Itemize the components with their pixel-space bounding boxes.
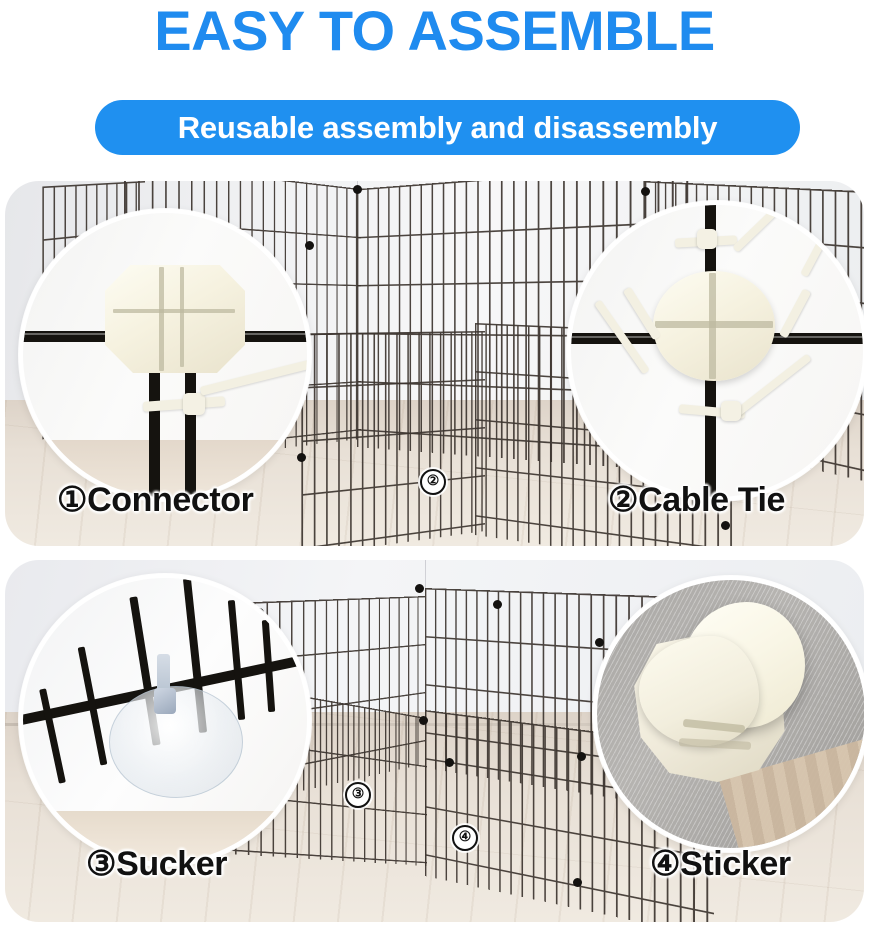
connector-slot xyxy=(180,267,184,367)
bubble-sucker xyxy=(19,574,311,866)
caption-sucker: ③Sucker xyxy=(86,844,227,884)
connector-part xyxy=(105,265,245,373)
bubble-connector xyxy=(19,209,311,501)
bubble-sticker xyxy=(593,576,864,852)
cable-tie-head xyxy=(721,401,741,421)
connector-node xyxy=(419,716,428,725)
panel-sucker-sticker: ③ ④ xyxy=(5,560,864,922)
connector-node xyxy=(577,752,586,761)
scene-marker-3: ③ xyxy=(345,782,371,808)
connector-node xyxy=(573,878,582,887)
frame-rod-vertical xyxy=(185,353,196,497)
connector-slot xyxy=(655,321,773,328)
connector-node xyxy=(721,521,730,530)
mesh-panel-left-front xyxy=(301,331,485,546)
playpen-scene-top: ② ① xyxy=(5,181,864,546)
scene-marker-4: ④ xyxy=(452,825,478,851)
connector-node xyxy=(493,600,502,609)
frame-rod-vertical xyxy=(149,353,160,497)
header: EASY TO ASSEMBLE Reusable assembly and d… xyxy=(0,0,869,170)
sucker-part xyxy=(109,686,243,798)
panel-connector-cabletie: ② ① xyxy=(5,181,864,546)
connector-slot xyxy=(113,309,235,313)
subtitle-pill: Reusable assembly and disassembly xyxy=(95,100,800,155)
page-title: EASY TO ASSEMBLE xyxy=(0,2,869,60)
cable-tie-head xyxy=(697,229,717,249)
connector-node xyxy=(353,185,362,194)
connector-node xyxy=(641,187,650,196)
caption-sticker: ④Sticker xyxy=(650,844,791,884)
connector-slot xyxy=(159,267,164,371)
connector-node xyxy=(445,758,454,767)
bubble-cable-tie xyxy=(567,201,864,501)
subtitle-text: Reusable assembly and disassembly xyxy=(178,110,718,146)
sucker-clip xyxy=(154,688,176,714)
caption-cable-tie: ②Cable Tie xyxy=(608,480,785,520)
caption-connector: ①Connector xyxy=(57,480,253,520)
cable-tie-head xyxy=(183,393,205,415)
playpen-scene-bottom: ③ ④ xyxy=(5,560,864,922)
scene-marker-2: ② xyxy=(420,469,446,495)
connector-node xyxy=(415,584,424,593)
